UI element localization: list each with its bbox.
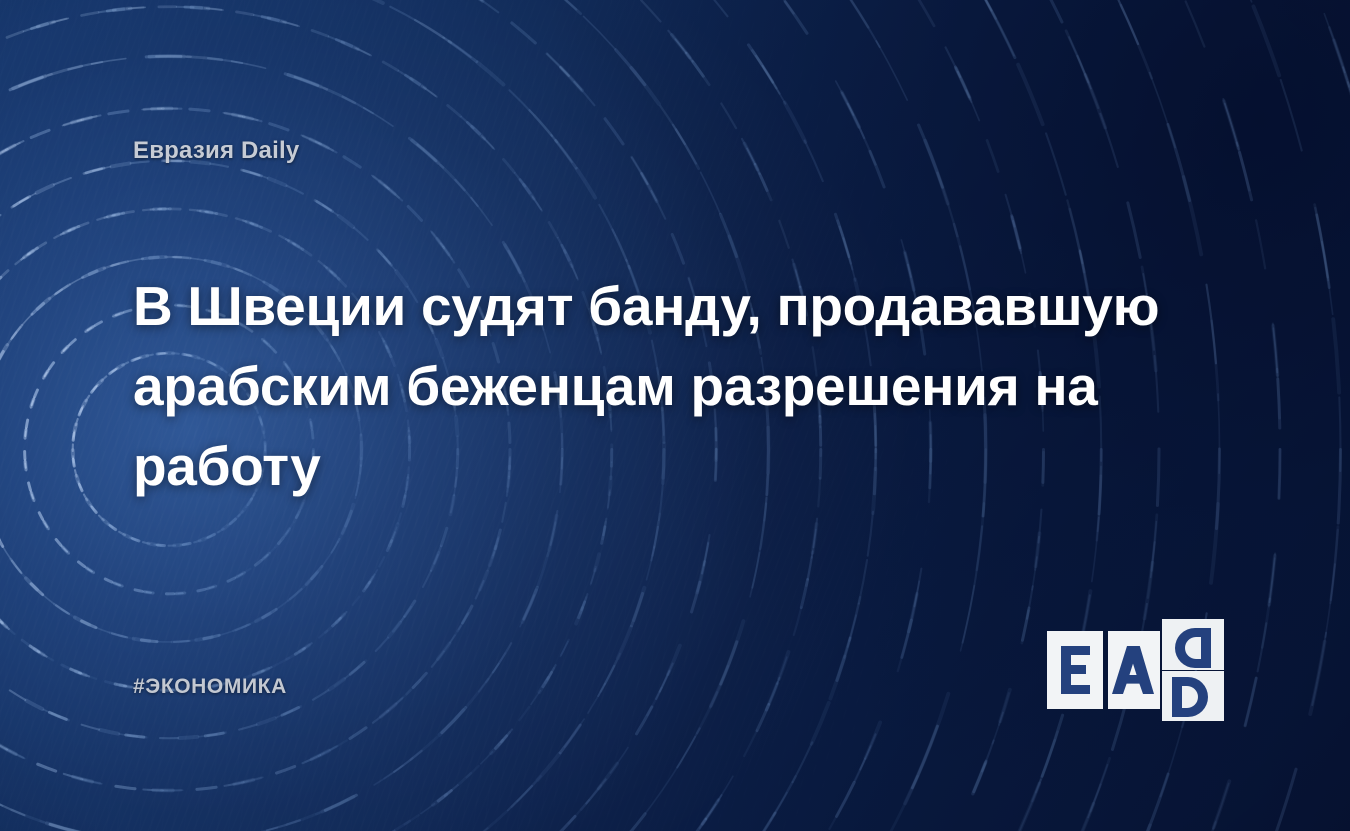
eadaily-logo[interactable] (1046, 619, 1226, 721)
logo-letter-e (1061, 646, 1090, 694)
brand-name: Евразия Daily (133, 137, 299, 165)
news-share-card: Евразия Daily В Швеции судят банду, прод… (0, 0, 1350, 831)
page-title: В Швеции судят банду, продававшую арабск… (133, 266, 1173, 506)
logo-tile-a (1108, 631, 1160, 709)
category-tag[interactable]: #ЭКОНОМИКА (133, 675, 287, 699)
